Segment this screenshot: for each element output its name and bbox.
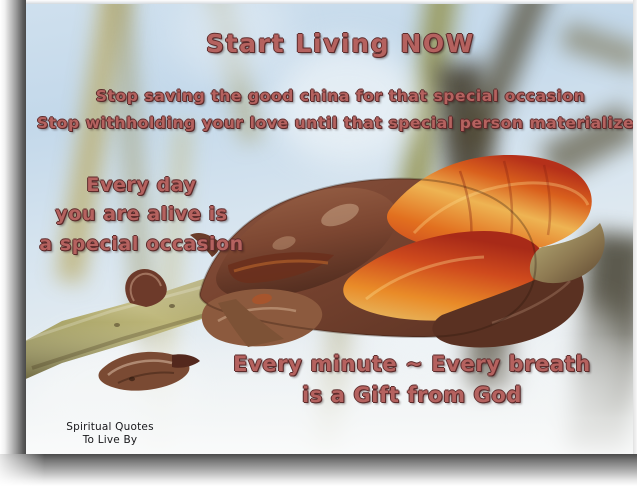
bottom-quote-block: Every minute ~ Every breath is a Gift fr…: [212, 349, 612, 411]
watermark-line-1: Spiritual Quotes: [50, 421, 170, 434]
frame-top-edge: [0, 0, 637, 4]
watermark-credit: Spiritual Quotes To Live By: [50, 421, 170, 447]
frame-bottom-fade: [0, 454, 637, 486]
quote-line-china: Stop saving the good china for that spec…: [22, 87, 635, 105]
left-quote-line-3: a special occasion: [34, 229, 249, 259]
watermark-line-2: To Live By: [50, 434, 170, 447]
side-bud-lower: [99, 352, 201, 391]
frame-right-edge: [633, 0, 637, 486]
left-quote-line-2: you are alive is: [34, 199, 249, 229]
quote-card: Start Living NOW Stop saving the good ch…: [0, 0, 637, 486]
photograph: Start Living NOW Stop saving the good ch…: [22, 3, 635, 454]
left-quote-line-1: Every day: [34, 171, 249, 199]
frame-left-edge: [0, 0, 26, 486]
quote-line-love: Stop withholding your love until that sp…: [22, 114, 635, 132]
left-quote-block: Every day you are alive is a special occ…: [34, 171, 249, 259]
bottom-quote-line-1: Every minute ~ Every breath: [212, 349, 612, 379]
bottom-quote-line-2: is a Gift from God: [212, 379, 612, 411]
headline-text: Start Living NOW: [22, 29, 635, 58]
